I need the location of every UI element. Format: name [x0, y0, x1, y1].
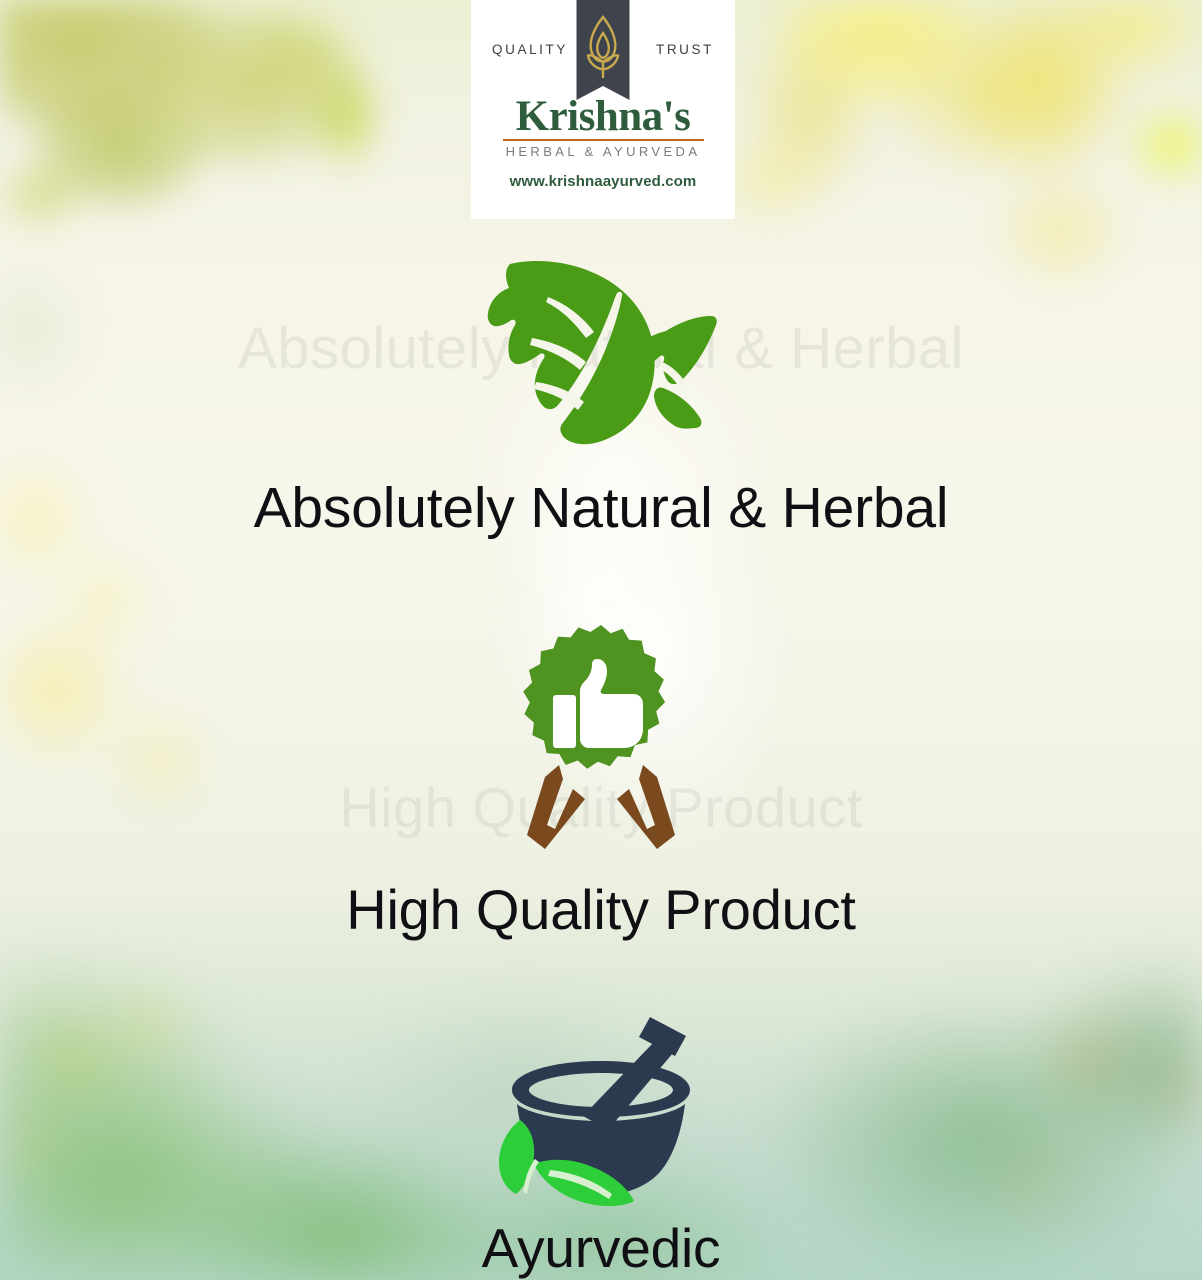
feature-label-ayurvedic: Ayurvedic	[0, 1216, 1202, 1280]
brand-logo-card: QUALITY TRUST Krishna's HERBAL & AYURVED…	[471, 0, 735, 219]
quality-label: QUALITY	[492, 42, 568, 57]
brand-name: Krishna's	[471, 96, 735, 137]
feature-list: Absolutely Natural & Herbal	[0, 250, 1202, 1280]
trust-label: TRUST	[656, 42, 714, 57]
quality-trust-row: QUALITY TRUST	[471, 0, 735, 98]
feature-item-ayurvedic: Ayurvedic	[0, 1012, 1202, 1280]
brand-website[interactable]: www.krishnaayurved.com	[471, 173, 735, 190]
feature-item-high-quality: High Quality Product	[0, 623, 1202, 942]
feature-label-natural-herbal: Absolutely Natural & Herbal	[0, 475, 1202, 541]
quality-badge-thumbs-up-icon	[501, 623, 701, 863]
double-leaf-icon	[476, 250, 726, 455]
promo-banner: Absolutely Natural & Herbal High Quality…	[0, 0, 1202, 1280]
feature-item-natural-herbal: Absolutely Natural & Herbal	[0, 250, 1202, 541]
mortar-and-pestle-leaf-icon	[490, 1012, 712, 1210]
ribbon-banner-icon	[577, 0, 630, 100]
feature-label-high-quality: High Quality Product	[0, 877, 1202, 942]
brand-tagline: HERBAL & AYURVEDA	[471, 144, 735, 159]
